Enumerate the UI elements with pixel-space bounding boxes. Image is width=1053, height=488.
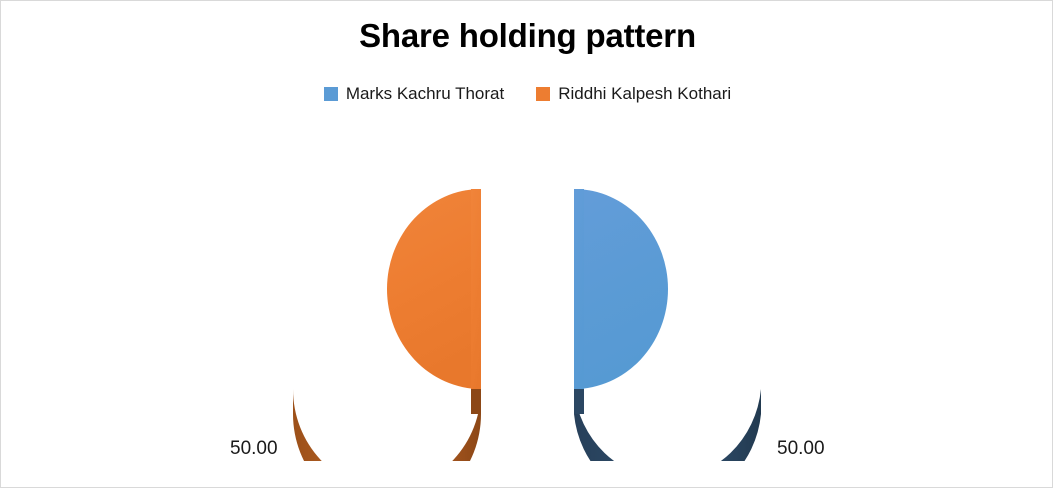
- pie-slice-series2-top: [387, 189, 481, 389]
- legend-swatch-icon: [324, 87, 338, 101]
- chart-title: Share holding pattern: [1, 17, 1053, 55]
- pie-slice-series2[interactable]: [293, 189, 481, 461]
- chart-legend: Marks Kachru Thorat Riddhi Kalpesh Kotha…: [1, 84, 1053, 104]
- pie-slice-series2-cut-face-shadow: [471, 389, 481, 414]
- pie-slice-series1-cut-face: [574, 189, 584, 414]
- pie-chart-svg: [1, 131, 1053, 461]
- pie-slice-series1-side: [574, 389, 761, 461]
- pie-slice-series1-cut-face-shadow: [574, 389, 584, 414]
- pie-slice-series2-side: [293, 389, 481, 461]
- legend-label-series1: Marks Kachru Thorat: [346, 84, 504, 104]
- data-label-series1: 50.00: [777, 438, 825, 460]
- pie-slice-series1-top: [574, 189, 668, 389]
- legend-item-series1[interactable]: Marks Kachru Thorat: [324, 84, 504, 104]
- pie-slice-series1[interactable]: [574, 189, 761, 461]
- legend-swatch-icon: [536, 87, 550, 101]
- legend-item-series2[interactable]: Riddhi Kalpesh Kothari: [536, 84, 731, 104]
- plot-area: 50.00 50.00: [1, 131, 1053, 461]
- chart-container: Share holding pattern Marks Kachru Thora…: [0, 0, 1053, 488]
- data-label-series2: 50.00: [230, 438, 278, 460]
- pie-slice-series2-cut-face: [471, 189, 481, 414]
- legend-label-series2: Riddhi Kalpesh Kothari: [558, 84, 731, 104]
